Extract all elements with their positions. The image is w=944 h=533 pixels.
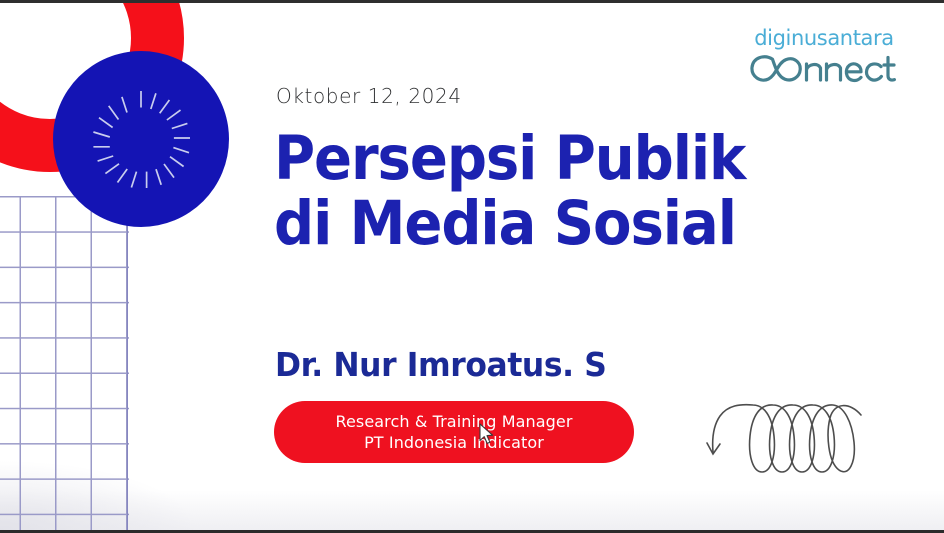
page-title: Persepsi Publik di Media Sosial — [274, 126, 844, 257]
brand-logo: diginusantara — [748, 28, 900, 86]
title-line-1: Persepsi Publik — [274, 126, 844, 191]
role-line-1: Research & Training Manager — [335, 411, 572, 432]
title-line-2: di Media Sosial — [274, 191, 844, 256]
video-frame-top-edge — [0, 0, 944, 3]
connect-lockup-icon — [748, 50, 900, 88]
blue-circle-decoration — [53, 51, 229, 227]
spiral-arrow-decoration — [700, 396, 865, 486]
starburst-icon — [53, 51, 229, 227]
presentation-slide: diginusantara Okt — [0, 0, 944, 533]
role-badge: Research & Training Manager PT Indonesia… — [274, 401, 634, 463]
grid-decoration-right-edge — [127, 196, 128, 530]
role-line-2: PT Indonesia Indicator — [364, 432, 544, 453]
speaker-name: Dr. Nur Imroatus. S — [275, 345, 606, 384]
logo-wordmark-top: diginusantara — [748, 28, 900, 49]
grid-decoration — [0, 196, 129, 530]
bottom-gradient-wash — [0, 490, 944, 530]
slide-date: Oktober 12, 2024 — [276, 84, 462, 108]
logo-wordmark-bottom — [748, 50, 900, 86]
